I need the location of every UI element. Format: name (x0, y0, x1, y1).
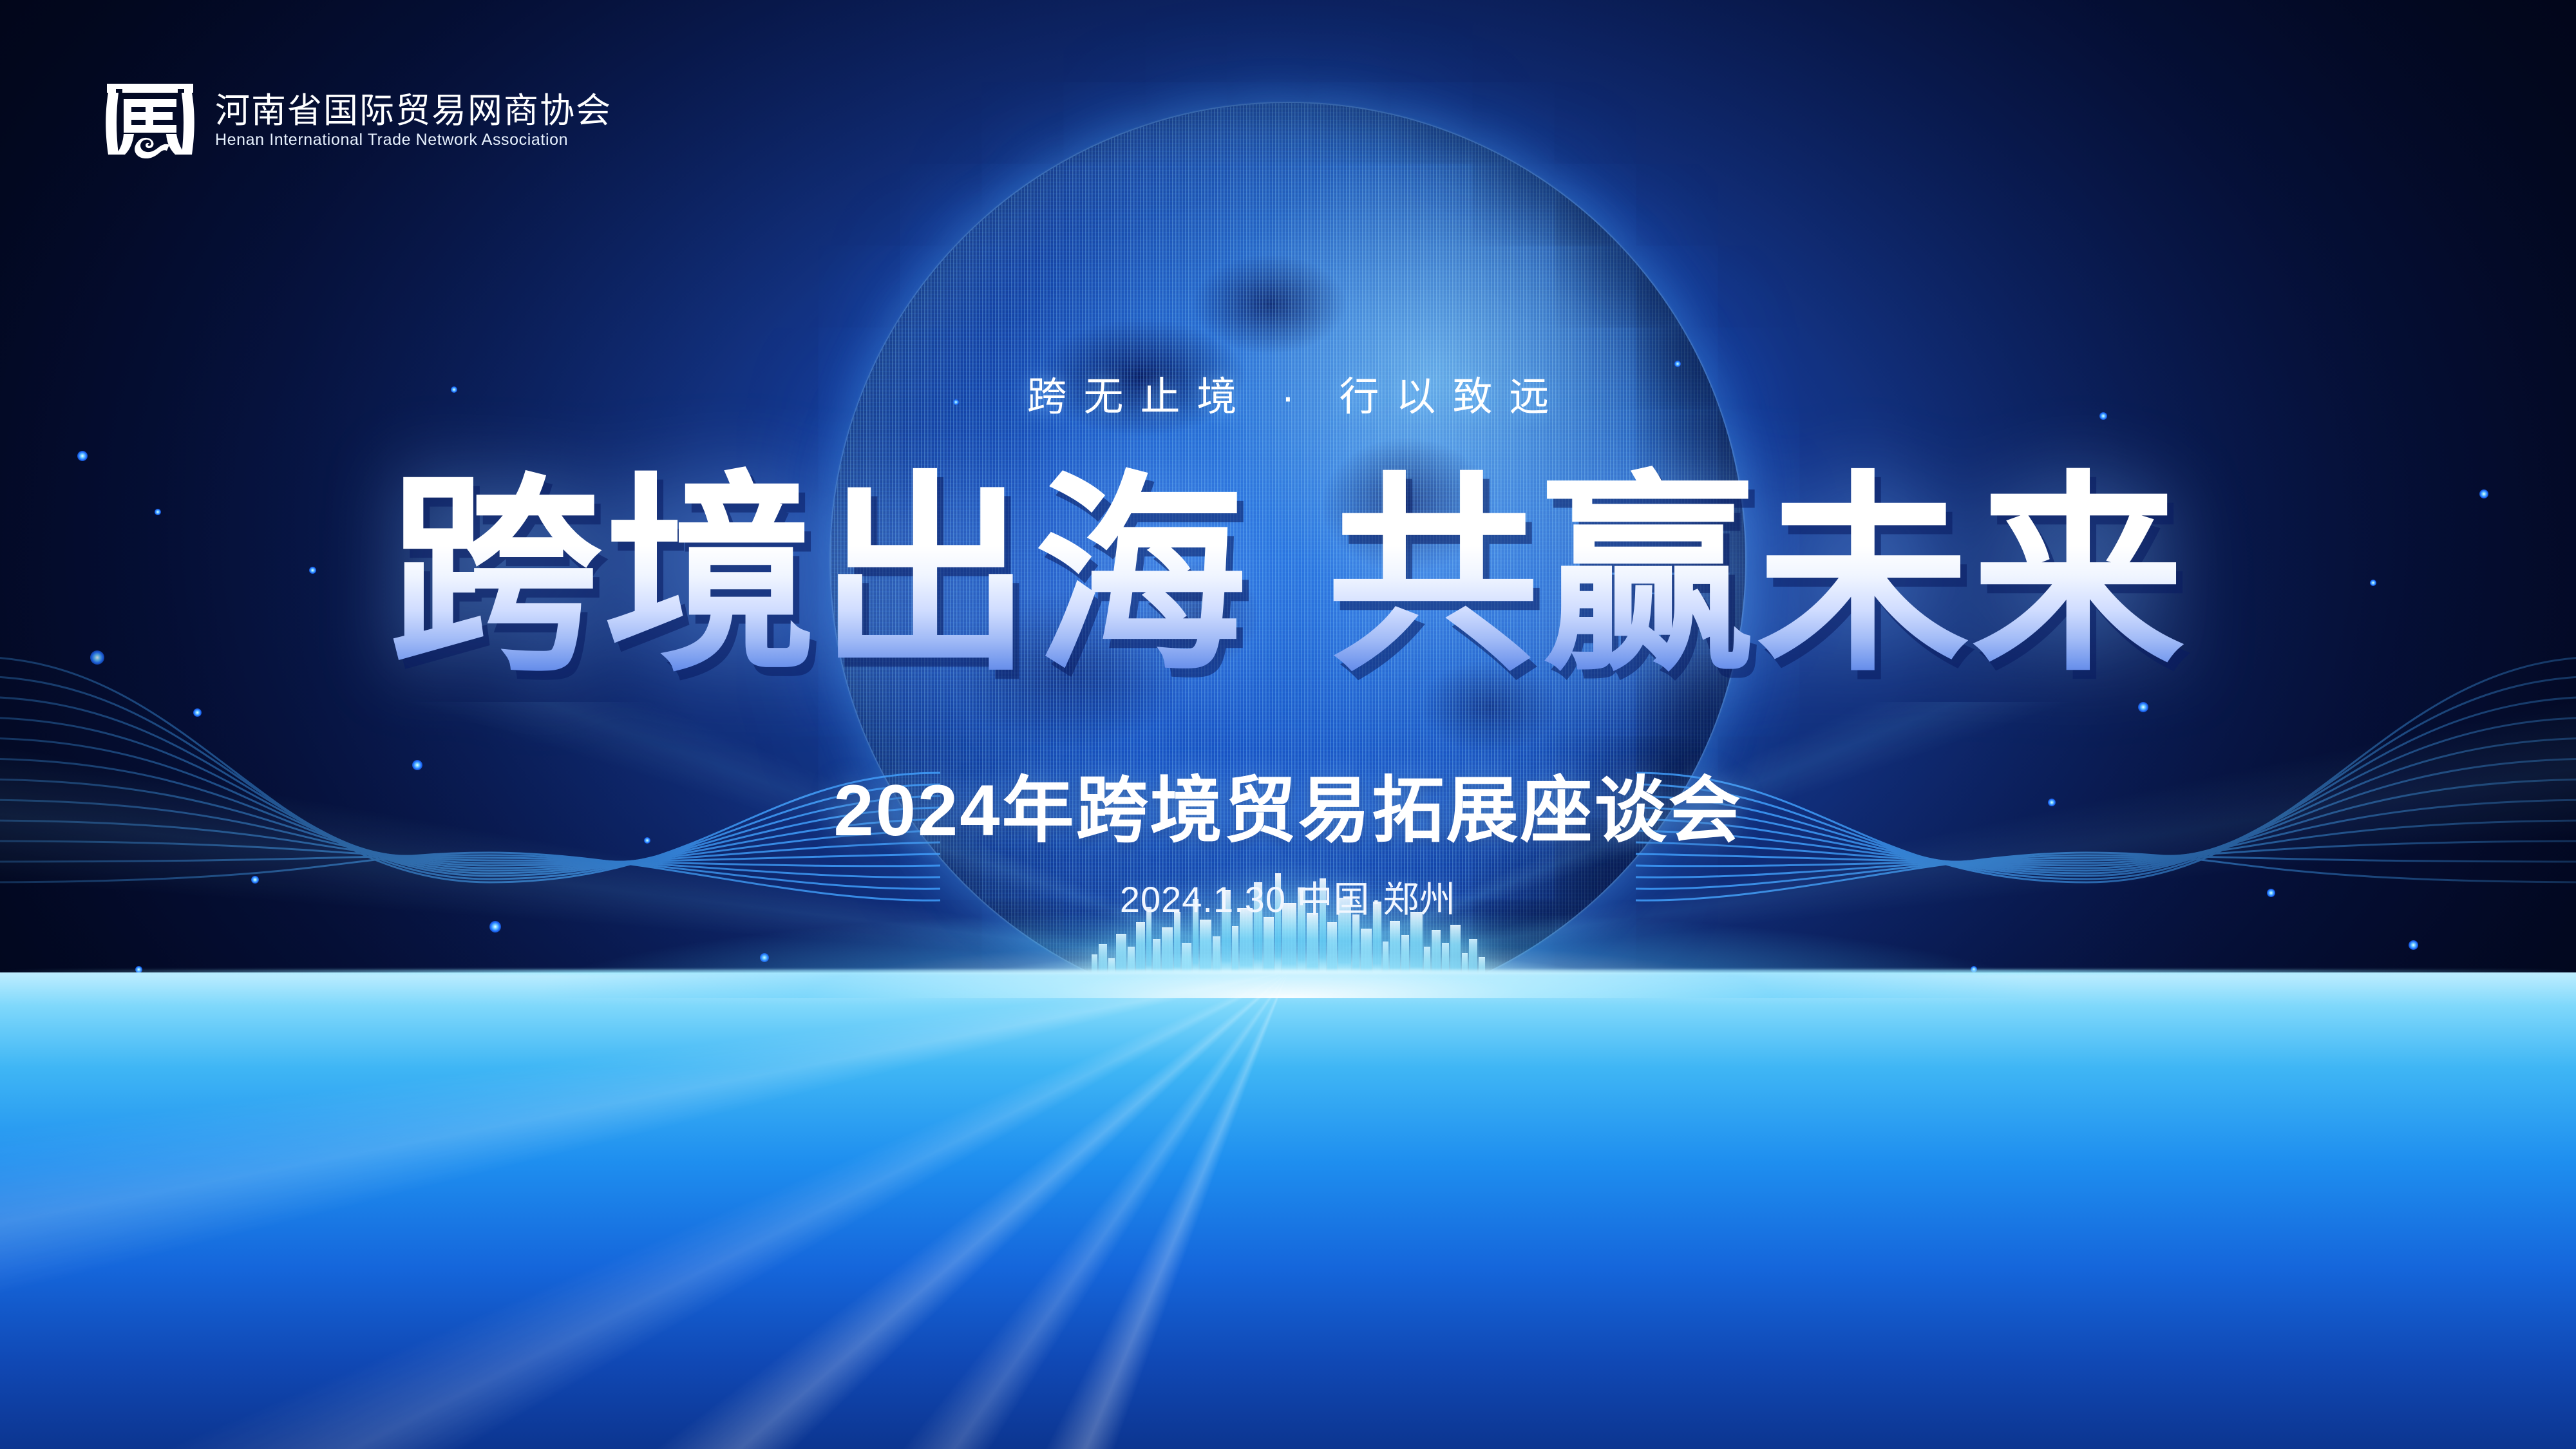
association-logo[interactable]: 河南省国际贸易网商协会 Henan International Trade Ne… (102, 82, 612, 158)
org-name-cn: 河南省国际贸易网商协会 (215, 93, 612, 128)
org-name-en: Henan International Trade Network Associ… (215, 132, 612, 148)
light-ground-plane (0, 972, 2576, 1449)
ground-light-rays (0, 972, 2576, 1449)
seal-script-emblem-icon (102, 82, 198, 158)
logo-text-block: 河南省国际贸易网商协会 Henan International Trade Ne… (215, 93, 612, 148)
horizon-line (0, 970, 2576, 974)
city-skyline-icon (1063, 855, 1513, 984)
event-banner: 河南省国际贸易网商协会 Henan International Trade Ne… (0, 0, 2576, 1449)
